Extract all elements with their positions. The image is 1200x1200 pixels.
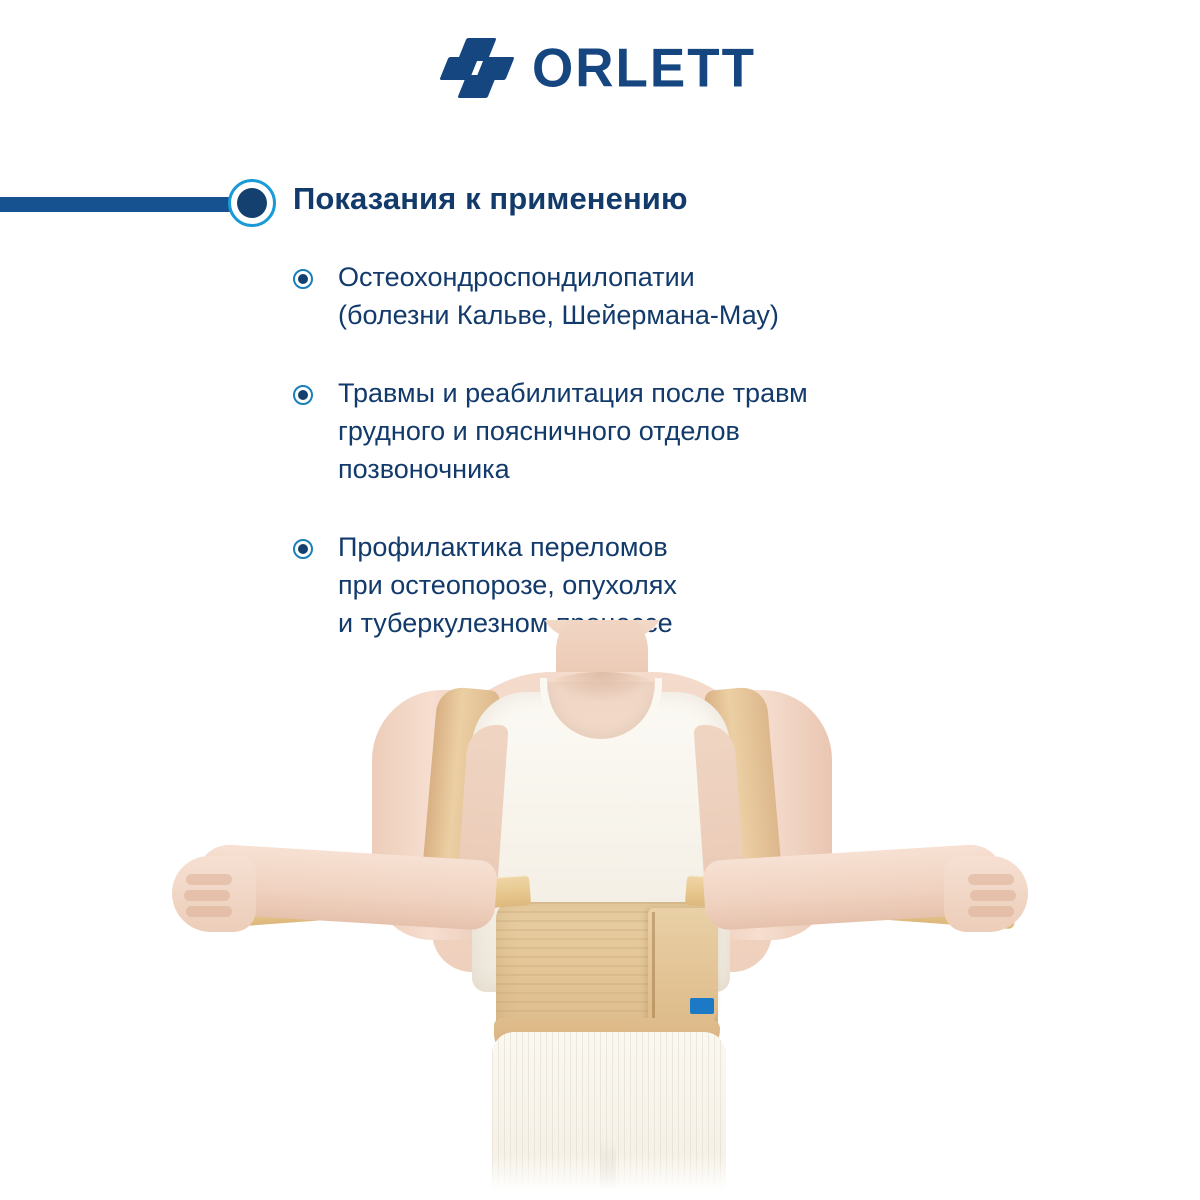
indications-list: Остеохондроспондилопатии (болезни Кальве… [293,258,1013,682]
brace-brand-label-tag [690,998,714,1014]
finger [186,906,232,917]
page-title: Показания к применению [293,181,688,217]
list-item: Травмы и реабилитация после травм грудно… [293,374,1013,489]
model-hand-right [944,856,1028,932]
finger [184,890,230,901]
ring-dot-bullet-icon [293,539,313,559]
list-item-text: Травмы и реабилитация после травм грудно… [338,374,1013,489]
model-hand-left [172,856,256,932]
product-info-slide: ORLETT Показания к применению Остеохондр… [0,0,1200,1200]
ring-dot-bullet-icon [293,385,313,405]
brand-logo: ORLETT [0,38,1200,98]
finger [970,890,1016,901]
finger [968,906,1014,917]
ring-dot-marker-icon [228,179,276,227]
brace-corset-seam [652,912,655,1022]
list-item-text: Остеохондроспондилопатии (болезни Кальве… [338,258,1013,335]
product-photo [0,620,1200,1200]
orlett-cross-logo-icon [444,38,510,98]
finger [186,874,232,885]
heading-rule [0,197,252,212]
ring-dot-bullet-icon [293,269,313,289]
list-item: Остеохондроспондилопатии (болезни Кальве… [293,258,1013,335]
neck-shadow [548,672,656,702]
photo-bottom-fade [0,1154,1200,1200]
finger [968,874,1014,885]
brand-wordmark: ORLETT [532,40,756,95]
